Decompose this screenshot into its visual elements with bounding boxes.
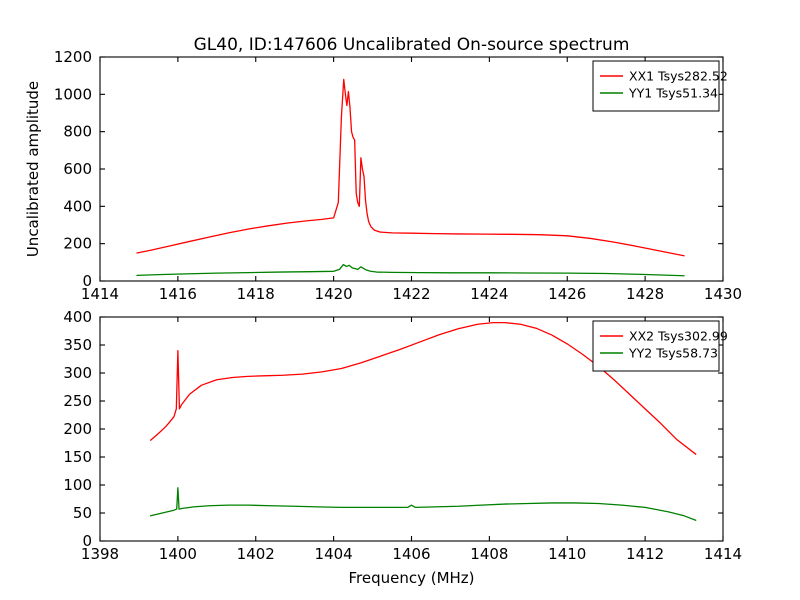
y-tick-label: 1200 <box>54 48 92 66</box>
x-tick-label: 1408 <box>470 545 508 563</box>
y-tick-label: 600 <box>63 160 92 178</box>
y-tick-label: 400 <box>63 197 92 215</box>
x-tick-label: 1404 <box>315 545 353 563</box>
y-tick-label: 350 <box>63 336 92 354</box>
x-tick-label: 1400 <box>159 545 197 563</box>
y-tick-label: 800 <box>63 123 92 141</box>
plot-canvas: GL40, ID:147606 Uncalibrated On-source s… <box>0 0 800 600</box>
x-tick-label: 1414 <box>704 545 742 563</box>
y-tick-label: 200 <box>63 235 92 253</box>
y-tick-label: 1000 <box>54 85 92 103</box>
y-tick-label: 100 <box>63 476 92 494</box>
legend-label: XX1 Tsys282.52 <box>629 69 728 84</box>
figure-title: GL40, ID:147606 Uncalibrated On-source s… <box>194 35 630 55</box>
x-tick-label: 1418 <box>237 285 275 303</box>
x-tick-label: 1410 <box>548 545 586 563</box>
x-tick-label: 1426 <box>548 285 586 303</box>
panel-bottom: 1398140014021404140614081410141214140501… <box>63 308 742 587</box>
x-tick-label: 1424 <box>470 285 508 303</box>
y-tick-label: 400 <box>63 308 92 326</box>
y-tick-label: 0 <box>82 532 92 550</box>
x-tick-label: 1422 <box>392 285 430 303</box>
trace-yy1 <box>137 265 684 276</box>
y-tick-label: 200 <box>63 420 92 438</box>
y-tick-label: 250 <box>63 392 92 410</box>
y-tick-label: 150 <box>63 448 92 466</box>
trace-yy2 <box>151 488 696 520</box>
legend-label: YY2 Tsys58.73 <box>628 346 718 361</box>
x-tick-label: 1416 <box>159 285 197 303</box>
y-tick-label: 50 <box>73 504 92 522</box>
x-tick-label: 1428 <box>626 285 664 303</box>
spectrum-figure: GL40, ID:147606 Uncalibrated On-source s… <box>0 0 800 600</box>
x-axis-label: Frequency (MHz) <box>348 569 474 587</box>
y-tick-label: 0 <box>82 272 92 290</box>
x-tick-label: 1420 <box>315 285 353 303</box>
x-tick-label: 1430 <box>704 285 742 303</box>
y-axis-label: Uncalibrated amplitude <box>24 81 42 257</box>
x-tick-label: 1412 <box>626 545 664 563</box>
panel-top: 1414141614181420142214241426142814300200… <box>24 48 742 303</box>
x-tick-label: 1406 <box>392 545 430 563</box>
y-tick-label: 300 <box>63 364 92 382</box>
legend-label: XX2 Tsys302.99 <box>629 329 728 344</box>
legend-label: YY1 Tsys51.34 <box>628 86 718 101</box>
x-tick-label: 1402 <box>237 545 275 563</box>
